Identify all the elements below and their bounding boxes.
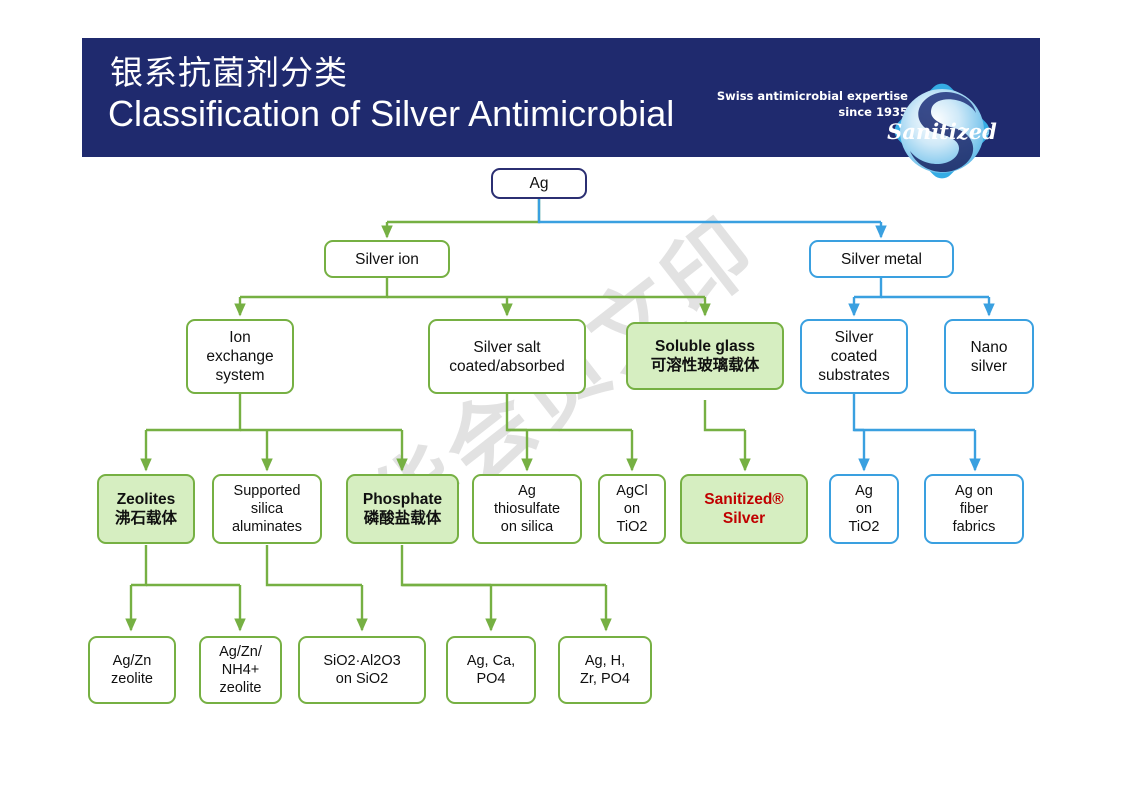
node-supported-silica-aluminates[interactable]: Supported silica aluminates (212, 474, 322, 544)
node-ion-exchange-system[interactable]: Ion exchange system (186, 319, 294, 394)
node-ag-fiber-line-3: fabrics (953, 519, 996, 535)
node-agznnh4-line-2: NH4+ (222, 662, 259, 678)
node-ag-tio2-line-1: Ag (855, 483, 873, 499)
node-silver-coated-line-2: coated (831, 348, 878, 365)
node-agzn-line-1: Ag/Zn (113, 653, 152, 669)
node-thiosulfate-line-3: on silica (501, 519, 553, 535)
node-silver-metal[interactable]: Silver metal (809, 240, 954, 278)
node-supported-line-1: Supported (234, 483, 301, 499)
node-ag-tio2-line-3: TiO2 (849, 519, 880, 535)
node-agznnh4-line-3: zeolite (220, 680, 262, 696)
node-nano-silver-line-2: silver (971, 358, 1007, 375)
node-sanitized-silver[interactable]: Sanitized® Silver (680, 474, 808, 544)
node-thiosulfate-line-1: Ag (518, 483, 536, 499)
node-zeolites-label-en: Zeolites (117, 491, 176, 508)
node-agcl-on-tio2[interactable]: AgCl on TiO2 (598, 474, 666, 544)
node-agcl-line-2: on (624, 501, 640, 517)
node-phosphate-label-cn: 磷酸盐载体 (364, 509, 442, 527)
node-agzn-nh4-zeolite[interactable]: Ag/Zn/ NH4+ zeolite (199, 636, 282, 704)
node-soluble-glass[interactable]: Soluble glass 可溶性玻璃载体 (626, 322, 784, 390)
node-ag-h-zr-po4[interactable]: Ag, H, Zr, PO4 (558, 636, 652, 704)
node-silver-salt[interactable]: Silver salt coated/absorbed (428, 319, 586, 394)
node-ag[interactable]: Ag (491, 168, 587, 199)
node-silver-coated-line-1: Silver (835, 329, 874, 346)
node-aghzr-line-2: Zr, PO4 (580, 671, 630, 687)
node-agznnh4-line-1: Ag/Zn/ (219, 644, 262, 660)
node-ag-ca-po4[interactable]: Ag, Ca, PO4 (446, 636, 536, 704)
node-supported-line-3: aluminates (232, 519, 302, 535)
node-ag-on-tio2[interactable]: Ag on TiO2 (829, 474, 899, 544)
node-agcapo4-line-1: Ag, Ca, (467, 653, 515, 669)
node-sio2-al2o3-on-sio2[interactable]: SiO2·Al2O3 on SiO2 (298, 636, 426, 704)
node-zeolites-label-cn: 沸石载体 (115, 509, 177, 527)
node-thiosulfate-line-2: thiosulfate (494, 501, 560, 517)
node-ion-exchange-line-1: Ion (229, 329, 251, 346)
node-soluble-glass-label-en: Soluble glass (655, 338, 755, 355)
node-agzn-zeolite[interactable]: Ag/Zn zeolite (88, 636, 176, 704)
node-supported-line-2: silica (251, 501, 283, 517)
node-silver-salt-line-1: Silver salt (473, 339, 540, 356)
node-aghzr-line-1: Ag, H, (585, 653, 625, 669)
node-silver-ion[interactable]: Silver ion (324, 240, 450, 278)
node-sio2-line-2: on SiO2 (336, 671, 388, 687)
node-sanitized-line-1: Sanitized® (704, 491, 783, 508)
node-sanitized-line-2: Silver (723, 510, 765, 527)
node-ag-label: Ag (496, 174, 582, 193)
node-silver-coated-substrates[interactable]: Silver coated substrates (800, 319, 908, 394)
node-nano-silver[interactable]: Nano silver (944, 319, 1034, 394)
node-agcl-line-3: TiO2 (617, 519, 648, 535)
node-agcapo4-line-2: PO4 (476, 671, 505, 687)
node-ag-fiber-line-1: Ag on (955, 483, 993, 499)
node-zeolites[interactable]: Zeolites 沸石载体 (97, 474, 195, 544)
node-ion-exchange-line-2: exchange (206, 348, 273, 365)
node-nano-silver-line-1: Nano (970, 339, 1007, 356)
node-silver-metal-label: Silver metal (814, 250, 949, 269)
node-silver-coated-line-3: substrates (818, 367, 890, 384)
node-sio2-line-1: SiO2·Al2O3 (323, 653, 400, 669)
node-phosphate-label-en: Phosphate (363, 491, 442, 508)
node-silver-salt-line-2: coated/absorbed (449, 358, 564, 375)
node-soluble-glass-label-cn: 可溶性玻璃载体 (651, 356, 760, 374)
node-ag-thiosulfate-on-silica[interactable]: Ag thiosulfate on silica (472, 474, 582, 544)
node-agzn-line-2: zeolite (111, 671, 153, 687)
node-ag-on-fiber-fabrics[interactable]: Ag on fiber fabrics (924, 474, 1024, 544)
node-silver-ion-label: Silver ion (329, 250, 445, 269)
node-ag-tio2-line-2: on (856, 501, 872, 517)
node-agcl-line-1: AgCl (616, 483, 647, 499)
node-phosphate[interactable]: Phosphate 磷酸盐载体 (346, 474, 459, 544)
node-ion-exchange-line-3: system (215, 367, 264, 384)
node-ag-fiber-line-2: fiber (960, 501, 988, 517)
